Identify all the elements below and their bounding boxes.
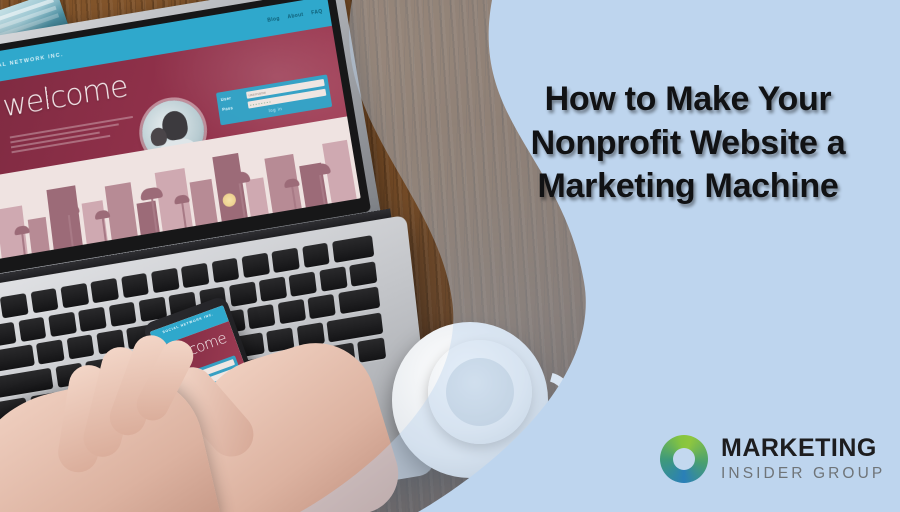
site-nav-item-0: Blog [267,16,280,24]
site-nav-item-1: About [287,12,304,20]
site-nav-item-2: FAQ [311,9,323,17]
laptop-screen: SOCIAL NETWORK INC. Blog About FAQ welco… [0,0,361,260]
site-login-box: User username Pass •••••••• log in [216,74,333,125]
brand-logo-text: MARKETING INSIDER GROUP [721,436,885,482]
site-login-pass-label: Pass [222,103,246,112]
page-title: How to Make Your Nonprofit Website a Mar… [492,78,884,209]
coffee-cup [428,340,532,444]
site-brand: SOCIAL NETWORK INC. [0,52,64,72]
site-hero-heading: welcome [1,70,130,125]
site-login-user-label: User [220,94,244,103]
ring-icon [660,435,708,483]
brand-tagline: INSIDER GROUP [721,466,885,482]
brand-logo[interactable]: MARKETING INSIDER GROUP [660,435,885,483]
site-nav: Blog About FAQ [267,9,323,24]
headline-line-3: Marketing Machine [492,165,884,209]
banner-canvas: SOCIAL NETWORK INC. Blog About FAQ welco… [0,0,900,512]
site-hero-placeholder-text [10,116,135,156]
headline-line-2: Nonprofit Website a [492,122,884,166]
headline-line-1: How to Make Your [492,78,884,122]
brand-name: MARKETING [721,436,885,461]
